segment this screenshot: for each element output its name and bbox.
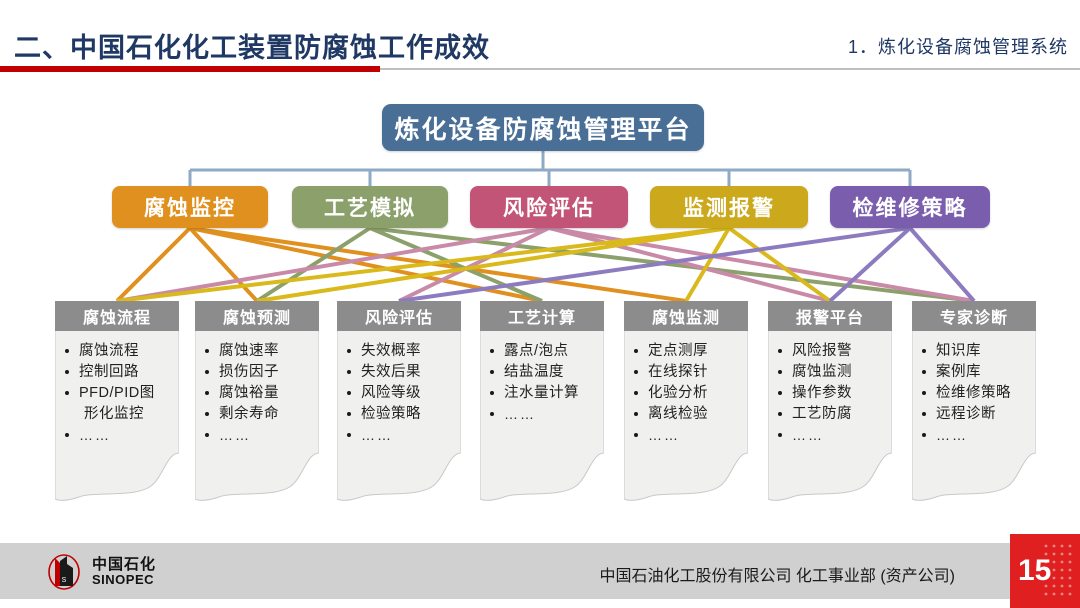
card-body: 失效概率失效后果风险等级检验策略…… [337, 331, 461, 501]
card-list-item: 损伤因子 [202, 362, 315, 383]
category-label: 腐蚀监控 [144, 192, 236, 222]
card-list-item: 检维修策略 [919, 383, 1032, 404]
category-box-4[interactable]: 监测报警 [650, 186, 808, 228]
card-list-item: 远程诊断 [919, 404, 1032, 425]
card-list-item: 注水量计算 [487, 383, 600, 404]
card-list-item: …… [344, 425, 457, 446]
card-list-item: …… [202, 425, 315, 446]
card-list-item: 风险等级 [344, 383, 457, 404]
category-label: 工艺模拟 [324, 192, 416, 222]
card-list-item: …… [631, 425, 744, 446]
slide-footer: S 中国石化 SINOPEC 中国石油化工股份有限公司 化工事业部 (资产公司)… [0, 534, 1080, 608]
module-card-5[interactable]: 腐蚀监测定点测厚在线探针化验分析离线检验…… [624, 301, 748, 501]
category-label: 检维修策略 [853, 192, 968, 222]
module-card-7[interactable]: 专家诊断知识库案例库检维修策略远程诊断…… [912, 301, 1036, 501]
card-list-item: 工艺防腐 [775, 404, 888, 425]
module-card-6[interactable]: 报警平台风险报警腐蚀监测操作参数工艺防腐…… [768, 301, 892, 501]
link-4-6 [729, 228, 830, 301]
card-list-item: …… [919, 425, 1032, 446]
card-body: 露点/泡点结盐温度注水量计算…… [480, 331, 604, 501]
card-body: 定点测厚在线探针化验分析离线检验…… [624, 331, 748, 501]
card-list-item: 腐蚀速率 [202, 341, 315, 362]
card-list-item: PFD/PID图 [62, 383, 175, 404]
card-list-item: …… [62, 425, 175, 446]
card-list-item: 知识库 [919, 341, 1032, 362]
card-item-list: 定点测厚在线探针化验分析离线检验…… [631, 341, 744, 446]
card-list-item: 定点测厚 [631, 341, 744, 362]
slide-header: 二、中国石化化工装置防腐蚀工作成效 1．炼化设备腐蚀管理系统 [0, 0, 1080, 76]
card-list-item: 离线检验 [631, 404, 744, 425]
header-red-rule [0, 66, 380, 72]
header-gray-rule [380, 68, 1080, 70]
section-subtitle: 1．炼化设备腐蚀管理系统 [848, 33, 1068, 59]
card-list-item: 露点/泡点 [487, 341, 600, 362]
card-title: 报警平台 [768, 301, 892, 331]
category-box-2[interactable]: 工艺模拟 [292, 186, 448, 228]
module-card-1[interactable]: 腐蚀流程腐蚀流程控制回路PFD/PID图形化监控…… [55, 301, 179, 501]
card-list-item: 结盐温度 [487, 362, 600, 383]
card-list-item: 在线探针 [631, 362, 744, 383]
module-card-4[interactable]: 工艺计算露点/泡点结盐温度注水量计算…… [480, 301, 604, 501]
sinopec-logo-icon: S [44, 552, 84, 592]
card-list-item: 操作参数 [775, 383, 888, 404]
card-title: 专家诊断 [912, 301, 1036, 331]
page-number-badge: 15 [1010, 534, 1080, 608]
category-label: 风险评估 [503, 192, 595, 222]
card-list-item: 风险报警 [775, 341, 888, 362]
card-list-item: 剩余寿命 [202, 404, 315, 425]
sinopec-logo: S 中国石化 SINOPEC [44, 552, 156, 592]
card-title: 风险评估 [337, 301, 461, 331]
card-list-item: …… [775, 425, 888, 446]
card-list-item: 检验策略 [344, 404, 457, 425]
svg-text:S: S [62, 577, 67, 584]
card-title: 工艺计算 [480, 301, 604, 331]
card-item-list: 腐蚀流程控制回路PFD/PID图形化监控…… [62, 341, 175, 446]
card-item-list: 知识库案例库检维修策略远程诊断…… [919, 341, 1032, 446]
card-title: 腐蚀监测 [624, 301, 748, 331]
card-list-item: 形化监控 [62, 404, 175, 425]
slide-root: 二、中国石化化工装置防腐蚀工作成效 1．炼化设备腐蚀管理系统 炼化设备防腐蚀管理… [0, 0, 1080, 608]
card-item-list: 露点/泡点结盐温度注水量计算…… [487, 341, 600, 425]
category-box-1[interactable]: 腐蚀监控 [112, 186, 268, 228]
card-body: 知识库案例库检维修策略远程诊断…… [912, 331, 1036, 501]
card-title: 腐蚀预测 [195, 301, 319, 331]
card-item-list: 风险报警腐蚀监测操作参数工艺防腐…… [775, 341, 888, 446]
card-list-item: 案例库 [919, 362, 1032, 383]
card-body: 腐蚀流程控制回路PFD/PID图形化监控…… [55, 331, 179, 501]
card-list-item: …… [487, 404, 600, 425]
category-box-5[interactable]: 检维修策略 [830, 186, 990, 228]
page-title: 二、中国石化化工装置防腐蚀工作成效 [14, 26, 490, 65]
logo-cn-text: 中国石化 [92, 557, 156, 573]
card-list-item: 化验分析 [631, 383, 744, 404]
platform-label: 炼化设备防腐蚀管理平台 [394, 110, 691, 146]
card-list-item: 腐蚀监测 [775, 362, 888, 383]
card-title: 腐蚀流程 [55, 301, 179, 331]
module-card-3[interactable]: 风险评估失效概率失效后果风险等级检验策略…… [337, 301, 461, 501]
footer-company-text: 中国石油化工股份有限公司 化工事业部 (资产公司) [599, 562, 955, 586]
category-label: 监测报警 [683, 192, 775, 222]
card-item-list: 腐蚀速率损伤因子腐蚀裕量剩余寿命…… [202, 341, 315, 446]
card-item-list: 失效概率失效后果风险等级检验策略…… [344, 341, 457, 446]
badge-dots-icon [1042, 540, 1078, 602]
card-body: 腐蚀速率损伤因子腐蚀裕量剩余寿命…… [195, 331, 319, 501]
platform-box[interactable]: 炼化设备防腐蚀管理平台 [382, 104, 704, 151]
card-list-item: 控制回路 [62, 362, 175, 383]
card-list-item: 失效概率 [344, 341, 457, 362]
card-list-item: 腐蚀裕量 [202, 383, 315, 404]
link-3-6 [549, 228, 830, 301]
architecture-diagram: 炼化设备防腐蚀管理平台 腐蚀监控工艺模拟风险评估监测报警检维修策略 腐蚀流程腐蚀… [0, 76, 1080, 534]
category-box-3[interactable]: 风险评估 [470, 186, 628, 228]
card-body: 风险报警腐蚀监测操作参数工艺防腐…… [768, 331, 892, 501]
card-list-item: 失效后果 [344, 362, 457, 383]
module-card-2[interactable]: 腐蚀预测腐蚀速率损伤因子腐蚀裕量剩余寿命…… [195, 301, 319, 501]
card-list-item: 腐蚀流程 [62, 341, 175, 362]
logo-en-text: SINOPEC [92, 573, 156, 587]
